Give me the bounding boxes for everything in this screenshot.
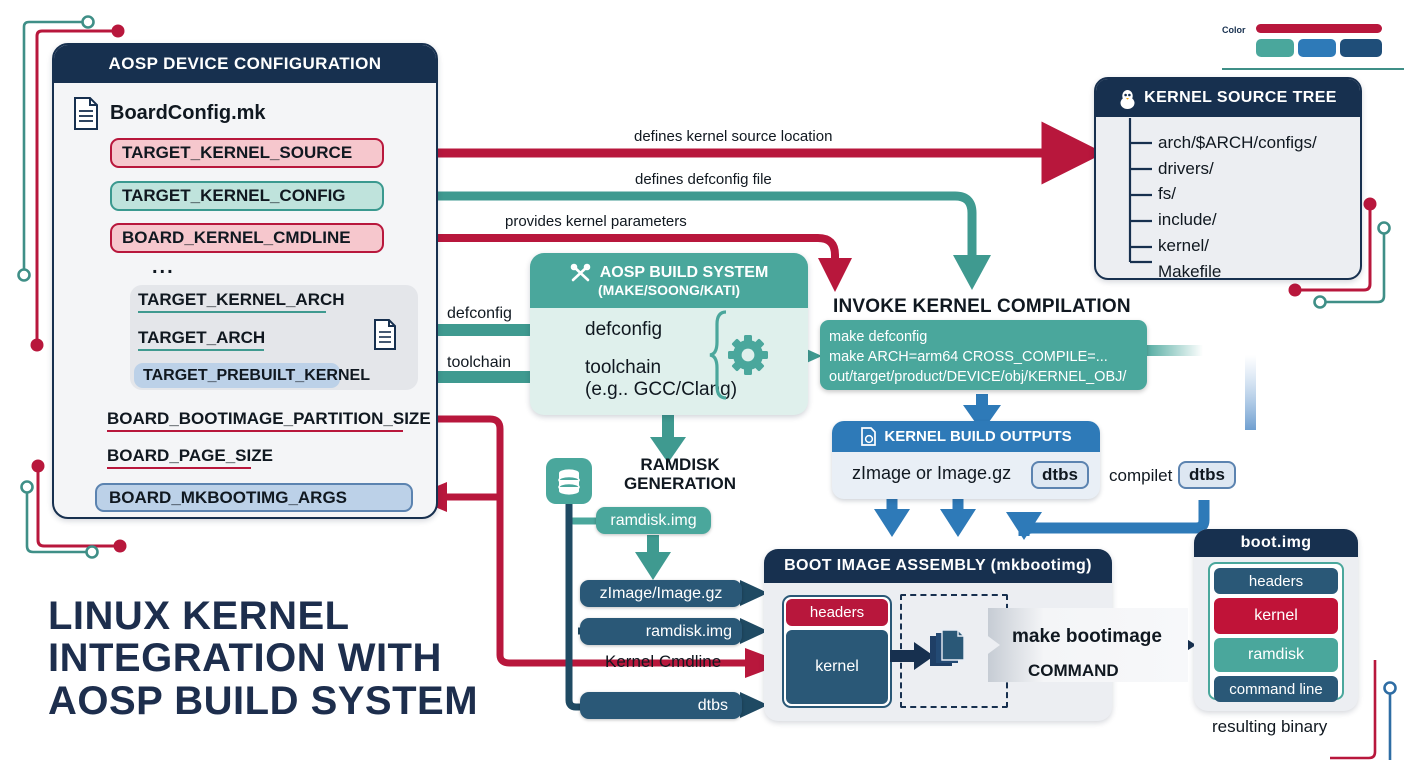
edge-label-provides-kernel-parameters: provides kernel parameters [505, 213, 687, 230]
brace-and-gear [714, 310, 778, 400]
pill-target-kernel-source[interactable]: TARGET_KERNEL_SOURCE [110, 138, 384, 168]
kernel-source-tree-items: arch/$ARCH/configs/ drivers/ fs/ include… [1158, 130, 1317, 284]
tree-item: fs/ [1158, 181, 1317, 207]
command-line: make ARCH=arm64 CROSS_COMPILE=... [829, 347, 1147, 367]
external-dtbs-chip[interactable]: dtbs [1178, 461, 1236, 489]
boot-img-layer-headers: headers [1214, 568, 1338, 594]
boot-assembly-kernel-label: kernel [815, 658, 859, 676]
boardconfig-filename: BoardConfig.mk [110, 102, 266, 125]
var-target-arch-label: TARGET_ARCH [138, 328, 265, 347]
ramdisk-title-line1: RAMDISK [600, 456, 760, 475]
pill-board-kernel-cmdline-label: BOARD_KERNEL_CMDLINE [122, 228, 351, 248]
page-title-text: LINUX KERNEL INTEGRATION WITH AOSP BUILD… [48, 594, 478, 723]
legend-underline [1222, 68, 1404, 70]
aosp-device-configuration-title: AOSP DEVICE CONFIGURATION [109, 54, 382, 74]
boot-assembly-headers-label: headers [810, 604, 864, 621]
boot-img-header: boot.img [1194, 529, 1358, 557]
edge-label-defines-defconfig: defines defconfig file [635, 171, 772, 188]
underline-target-arch [138, 349, 264, 351]
aosp-build-system-subtitle: (MAKE/SOONG/KATI) [598, 283, 740, 299]
underline-board-page-size [107, 467, 251, 469]
files-copy-icon [928, 630, 972, 674]
var-target-kernel-arch-label: TARGET_KERNEL_ARCH [138, 290, 345, 309]
boot-img-layer-kernel: kernel [1214, 598, 1338, 634]
kernel-build-output-dtbs-label: dtbs [1042, 465, 1078, 485]
feed-ramdisk-label: ramdisk.img [646, 623, 732, 641]
boot-img-layer-command-line-label: command line [1229, 681, 1322, 698]
feed-dtbs-pill: dtbs [580, 692, 742, 719]
underline-board-bootimage-partition-size [107, 430, 403, 432]
command-line: make defconfig [829, 327, 1147, 347]
tree-item: include/ [1158, 207, 1317, 233]
document-icon [72, 96, 100, 132]
kernel-source-tree-header: KERNEL SOURCE TREE [1096, 79, 1360, 117]
boot-assembly-headers-block: headers [786, 599, 888, 626]
legend-swatch-teal [1256, 39, 1294, 57]
pill-board-kernel-cmdline[interactable]: BOARD_KERNEL_CMDLINE [110, 223, 384, 253]
kernel-source-tree-title: KERNEL SOURCE TREE [1144, 89, 1337, 107]
color-legend: Color [1222, 22, 1382, 64]
tree-item: arch/$ARCH/configs/ [1158, 130, 1317, 156]
feed-zimage-pill: zImage/Image.gz [580, 580, 742, 607]
make-bootimage-label: make bootimage [1012, 626, 1162, 648]
edge-label-compilet: compilet [1109, 466, 1172, 486]
boot-img-layer-ramdisk: ramdisk [1214, 638, 1338, 672]
boot-assembly-kernel-block: kernel [786, 630, 888, 704]
var-board-bootimage-partition-size[interactable]: BOARD_BOOTIMAGE_PARTITION_SIZE [107, 409, 431, 429]
tree-item: kernel/ [1158, 233, 1317, 259]
aosp-device-configuration-header: AOSP DEVICE CONFIGURATION [54, 45, 436, 83]
gear-icon [728, 335, 768, 375]
var-board-mkbootimg-args-label: BOARD_MKBOOTIMG_ARGS [109, 488, 347, 508]
var-board-page-size-label: BOARD_PAGE_SIZE [107, 446, 273, 465]
boot-img-title: boot.img [1241, 534, 1312, 552]
linux-penguin-icon [1119, 88, 1136, 109]
tree-item: drivers/ [1158, 156, 1317, 182]
edge-label-defines-kernel-source: defines kernel source location [634, 128, 832, 145]
var-target-prebuilt-kernel[interactable]: TARGET_PREBUILT_KERNEL [134, 363, 340, 388]
file-image-icon [860, 427, 877, 446]
invoke-kernel-compilation-title: INVOKE KERNEL COMPILATION [833, 296, 1131, 318]
invoke-kernel-compilation-commands: make defconfig make ARCH=arm64 CROSS_COM… [820, 320, 1147, 390]
tree-item: Makefile [1158, 259, 1317, 285]
var-target-prebuilt-kernel-label: TARGET_PREBUILT_KERNEL [143, 367, 370, 385]
boot-image-assembly-title: BOOT IMAGE ASSEMBLY (mkbootimg) [784, 557, 1092, 575]
feed-dtbs-label: dtbs [698, 697, 728, 715]
legend-swatch-crimson [1256, 24, 1382, 33]
feed-kernel-cmdline-label: Kernel Cmdline [605, 652, 721, 672]
ellipsis: ... [152, 256, 175, 279]
boot-img-layer-headers-label: headers [1249, 573, 1303, 590]
boot-image-assembly-header: BOOT IMAGE ASSEMBLY (mkbootimg) [764, 549, 1112, 583]
var-board-page-size[interactable]: BOARD_PAGE_SIZE [107, 446, 273, 466]
database-icon [546, 458, 592, 504]
legend-swatch-blue [1298, 39, 1336, 57]
color-legend-label: Color [1222, 25, 1246, 35]
aosp-build-system-header: AOSP BUILD SYSTEM (MAKE/SOONG/KATI) [530, 253, 808, 308]
var-board-mkbootimg-args[interactable]: BOARD_MKBOOTIMG_ARGS [95, 483, 413, 512]
boot-img-caption: resulting binary [1212, 717, 1327, 737]
boot-img-layer-ramdisk-label: ramdisk [1248, 646, 1304, 664]
aosp-build-system-title: AOSP BUILD SYSTEM [600, 264, 769, 282]
pill-target-kernel-source-label: TARGET_KERNEL_SOURCE [122, 143, 352, 163]
kernel-source-tree-branches [1128, 118, 1160, 270]
kernel-build-output-dtbs-chip[interactable]: dtbs [1031, 461, 1089, 489]
pill-target-kernel-config-label: TARGET_KERNEL_CONFIG [122, 186, 346, 206]
var-target-kernel-arch[interactable]: TARGET_KERNEL_ARCH [138, 290, 345, 310]
database-glyph [556, 467, 582, 495]
ramdisk-title-line2: GENERATION [600, 475, 760, 494]
var-target-arch[interactable]: TARGET_ARCH [138, 328, 265, 348]
build-system-input-toolchain: toolchain [585, 357, 661, 379]
command-line: out/target/product/DEVICE/obj/KERNEL_OBJ… [829, 367, 1147, 387]
legend-swatch-navy [1340, 39, 1382, 57]
document-icon-group [372, 318, 398, 351]
feed-ramdisk-pill: ramdisk.img [580, 618, 742, 645]
edge-label-toolchain: toolchain [447, 354, 511, 372]
var-board-bootimage-partition-size-label: BOARD_BOOTIMAGE_PARTITION_SIZE [107, 409, 431, 428]
pill-target-kernel-config[interactable]: TARGET_KERNEL_CONFIG [110, 181, 384, 211]
kernel-build-output-image-label: zImage or Image.gz [852, 463, 1011, 484]
command-label: COMMAND [1028, 661, 1119, 681]
boot-img-layer-command-line: command line [1214, 676, 1338, 702]
kernel-build-outputs-title: KERNEL BUILD OUTPUTS [884, 428, 1071, 445]
edge-label-defconfig: defconfig [447, 305, 512, 323]
tools-icon [570, 263, 592, 283]
ramdisk-output-pill: ramdisk.img [596, 507, 711, 534]
boot-img-layer-kernel-label: kernel [1254, 607, 1298, 625]
feed-zimage-label: zImage/Image.gz [600, 585, 723, 603]
underline-target-kernel-arch [138, 311, 326, 313]
external-dtbs-label: dtbs [1189, 465, 1225, 485]
page-title: LINUX KERNEL INTEGRATION WITH AOSP BUILD… [48, 595, 508, 722]
ramdisk-generation-title: RAMDISK GENERATION [600, 456, 760, 493]
build-system-input-defconfig: defconfig [585, 319, 662, 341]
kernel-build-outputs-header: KERNEL BUILD OUTPUTS [832, 421, 1100, 452]
ramdisk-output-label: ramdisk.img [610, 512, 696, 530]
